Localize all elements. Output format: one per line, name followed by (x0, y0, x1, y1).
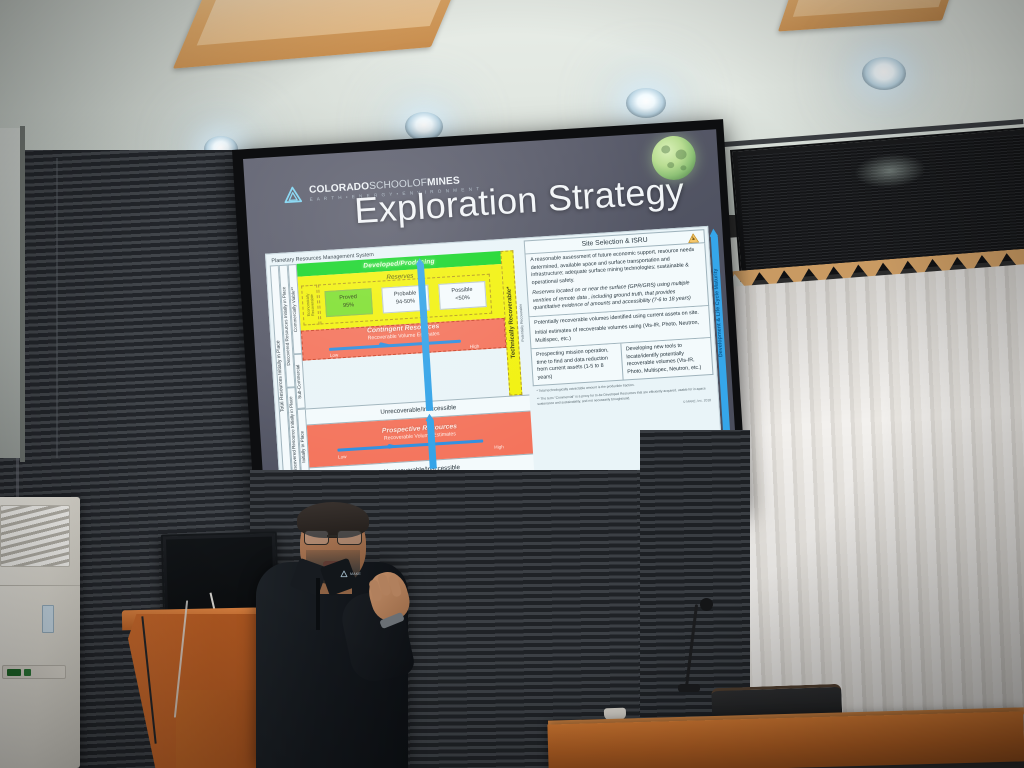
possible-value: <50% (455, 295, 470, 303)
ac-indicator (24, 669, 31, 676)
wall-seam (56, 158, 58, 458)
floor-standing-air-conditioner[interactable] (0, 497, 80, 768)
prospective-high: High (494, 444, 504, 450)
ac-grill (0, 505, 70, 567)
presenter-glasses (304, 530, 362, 543)
left-window-frame (20, 126, 25, 462)
left-window-sliver (0, 128, 22, 458)
downlight-4 (862, 57, 906, 90)
lecture-hall-photo: COLORADOSCHOOLOFMINES E A R T H • E N E … (0, 0, 1024, 768)
ac-display (7, 669, 21, 676)
microphone-capsule-icon (700, 598, 713, 611)
economically-recoverable-label: Economically Recoverable (305, 285, 316, 324)
economically-recoverable-strip: Economically Recoverable (301, 284, 320, 325)
proved-value: 95% (343, 302, 355, 310)
prms-diagram: Planetary Resources Management System To… (266, 239, 537, 493)
radiation-hazard-icon (687, 232, 699, 243)
ac-seam (0, 585, 80, 586)
prms-grid: Developed/Producing Reserves Economicall… (297, 250, 535, 486)
shirt-logo-text: MAKE (350, 572, 361, 576)
presenter-at-podium: MAKE (250, 500, 420, 768)
microphone-base (678, 684, 700, 692)
reserve-box-proved: Proved 95% (324, 288, 373, 317)
downlight-3 (626, 88, 666, 118)
ac-badge (42, 605, 54, 633)
isru-heading-text: Site Selection & ISRU (581, 236, 647, 247)
development-lifecycle-label: Development & Life Cycle Maturity (713, 268, 725, 357)
isru-cell3-right: Developing new tools to locate/identify … (621, 338, 714, 381)
technically-recoverable-label: Technically Recoverable* (506, 287, 517, 359)
presenter-placket (316, 578, 320, 630)
ac-control-panel[interactable] (2, 665, 66, 679)
probable-value: 94-50% (396, 298, 416, 307)
presenter-shirt-logo: MAKE (340, 570, 361, 578)
isru-cell-1: A reasonable assessment of future econom… (525, 243, 709, 317)
isru-cell3-left: Prospecting mission operation, time to f… (531, 344, 623, 387)
shirt-logo-triangle-icon (340, 570, 348, 578)
prospective-low: Low (338, 454, 347, 460)
mines-triangle-icon (283, 185, 303, 205)
reserve-box-possible: Possible <50% (438, 281, 487, 310)
contingent-low: Low (330, 352, 339, 358)
potentially-recoverable-label: Potentially Recoverable (518, 303, 524, 341)
contingent-high: High (470, 344, 480, 350)
